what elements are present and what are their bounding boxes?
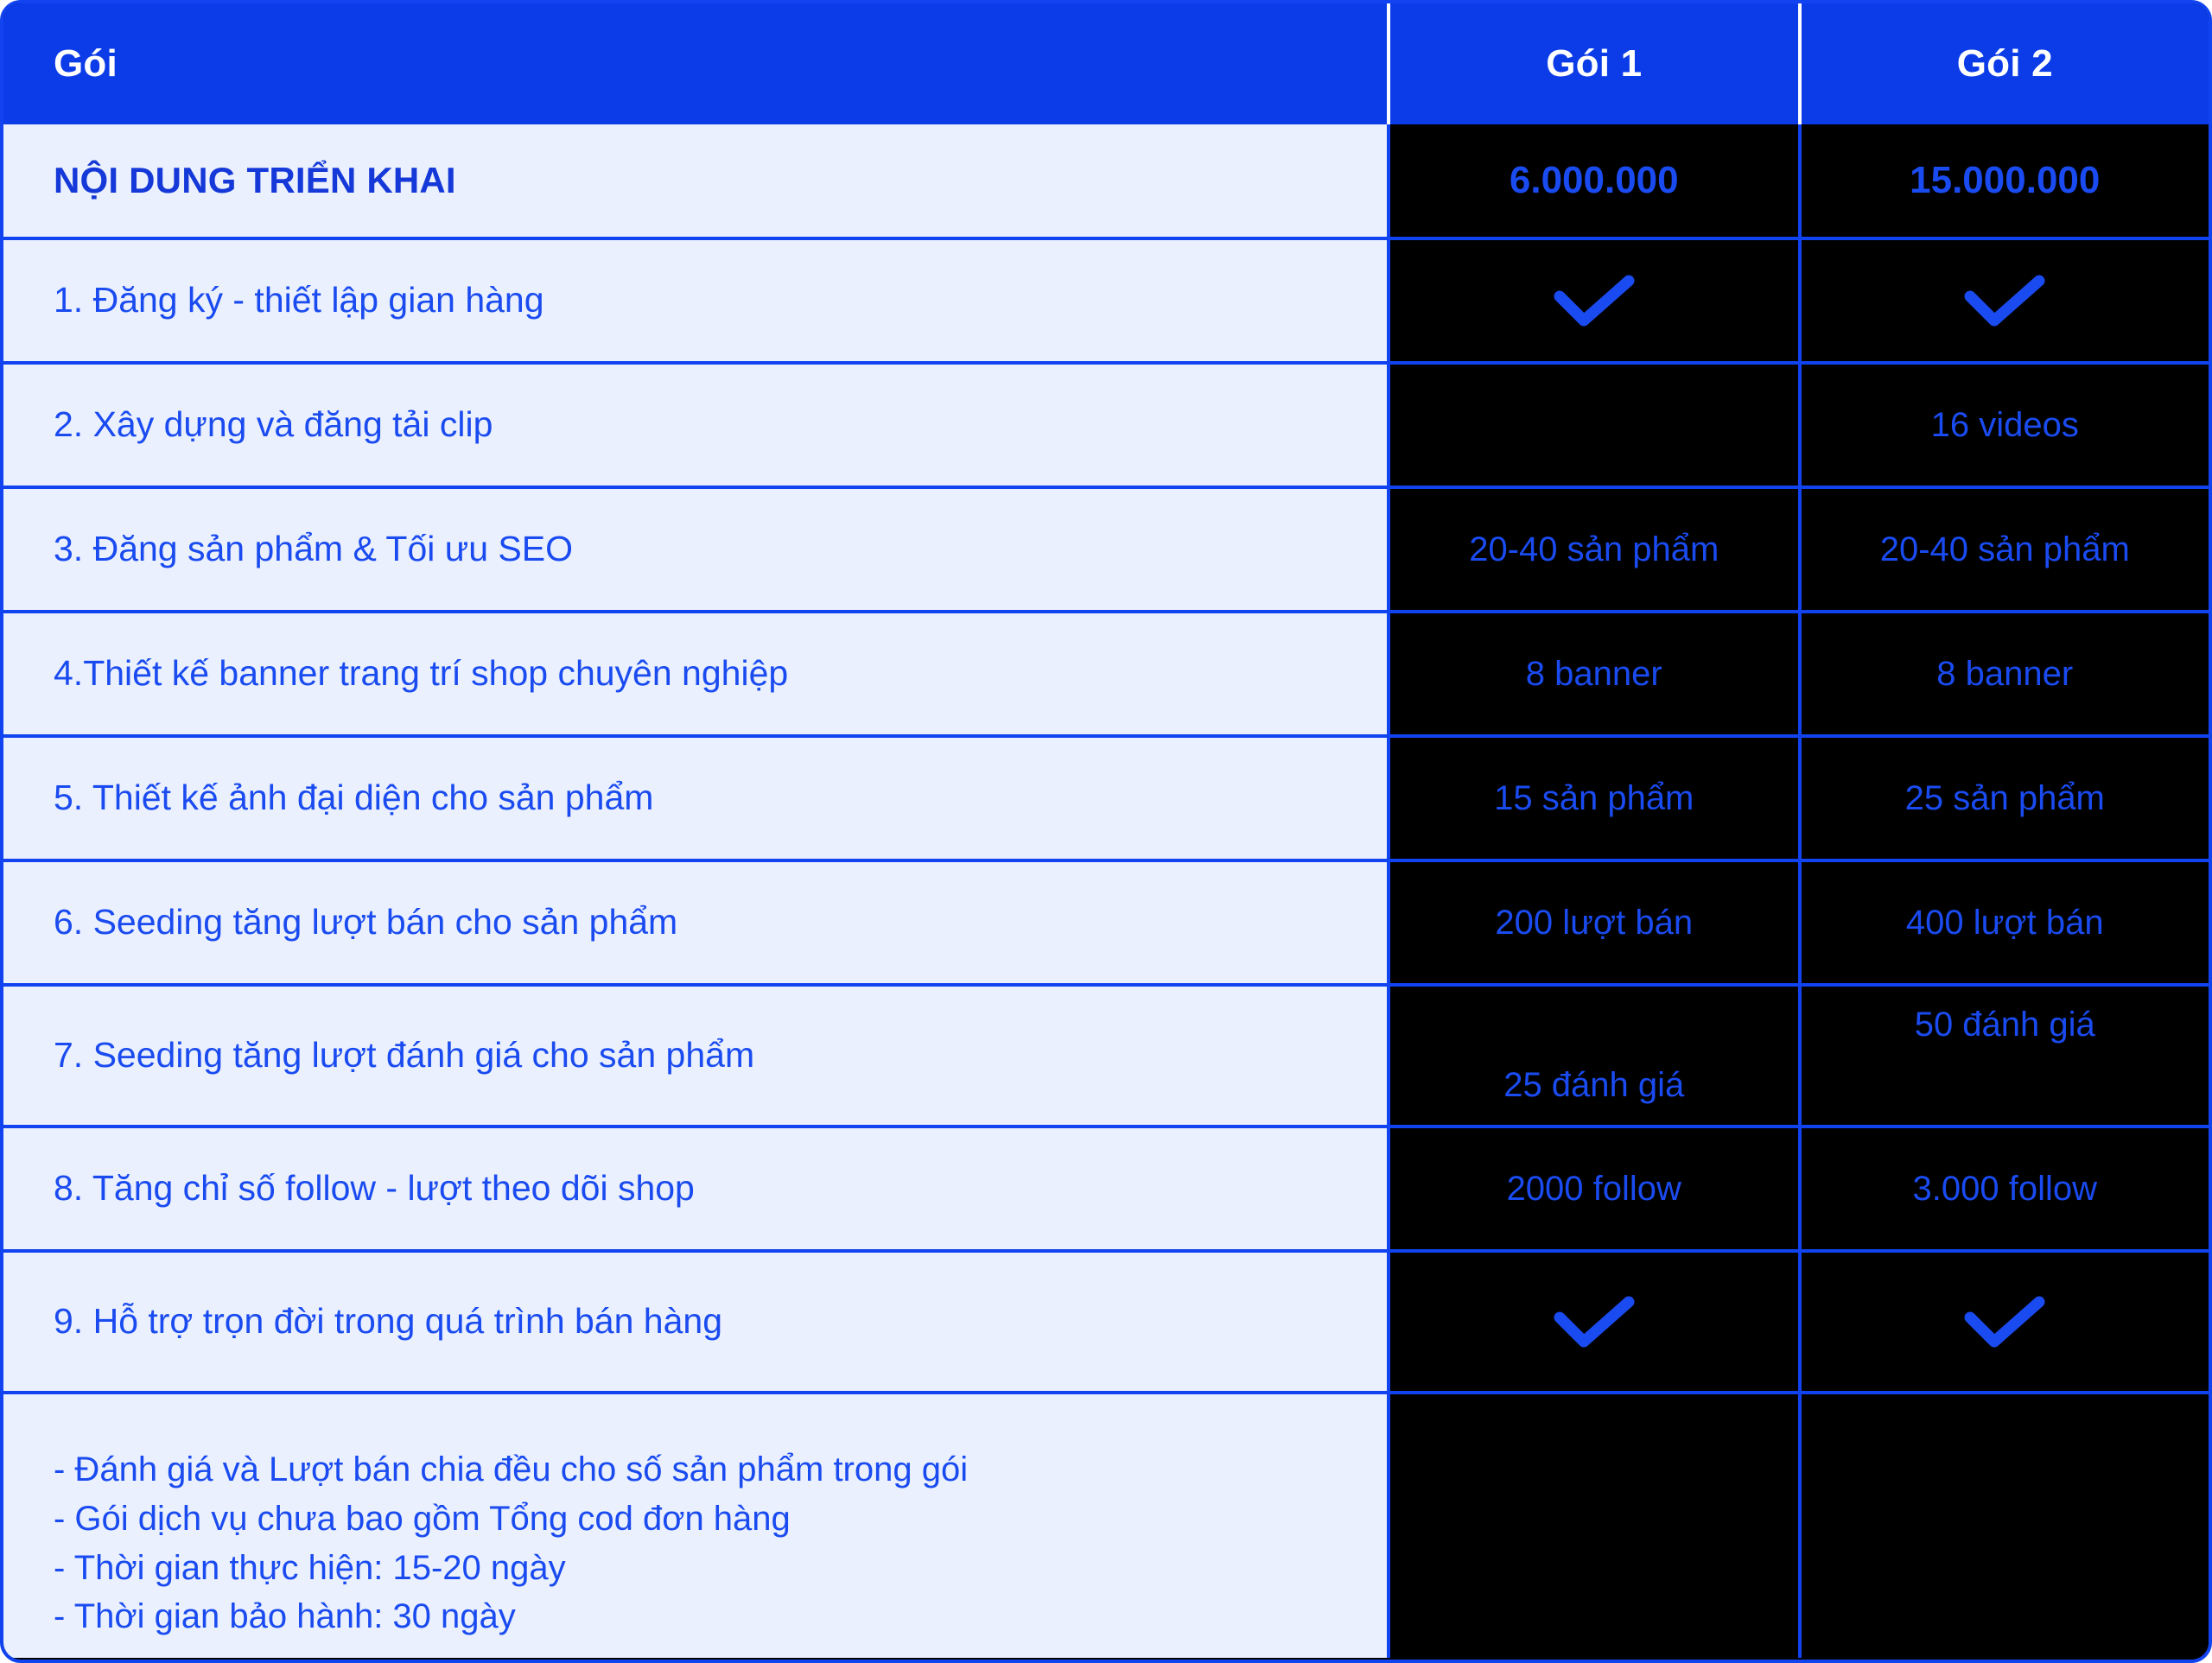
price-cell-plan2: 15.000.000 — [1798, 124, 2209, 237]
plan1-header-label: Gói 1 — [1546, 42, 1642, 86]
plan2-value: 25 sản phẩm — [1905, 779, 2105, 817]
plan1-value: 2000 follow — [1507, 1170, 1681, 1208]
table-row: 5. Thiết kế ảnh đại diện cho sản phẩm 15… — [3, 738, 2209, 862]
plan2-cell: 3.000 follow — [1798, 1128, 2209, 1249]
feature-label: 4.Thiết kế banner trang trí shop chuyên … — [54, 653, 788, 694]
feature-column-header-label: Gói — [54, 42, 118, 86]
feature-label: 2. Xây dựng và đăng tải clip — [54, 404, 493, 445]
plan2-value: 16 videos — [1931, 406, 2079, 444]
table-row: 6. Seeding tăng lượt bán cho sản phẩm 20… — [3, 862, 2209, 987]
feature-label: 7. Seeding tăng lượt đánh giá cho sản ph… — [54, 1035, 754, 1076]
plan1-cell — [1390, 1253, 1798, 1391]
table-row: 2. Xây dựng và đăng tải clip 16 videos — [3, 365, 2209, 489]
plan1-value: 8 banner — [1526, 655, 1662, 693]
table-row: 7. Seeding tăng lượt đánh giá cho sản ph… — [3, 987, 2209, 1128]
plan2-cell — [1798, 240, 2209, 361]
plan1-cell: 20-40 sản phẩm — [1390, 489, 1798, 610]
feature-label: 6. Seeding tăng lượt bán cho sản phẩm — [54, 902, 677, 943]
price-row: NỘI DUNG TRIỂN KHAI 6.000.000 15.000.000 — [3, 124, 2209, 240]
feature-cell: 7. Seeding tăng lượt đánh giá cho sản ph… — [3, 987, 1390, 1125]
note-line: - Đánh giá và Lượt bán chia đều cho số s… — [54, 1445, 968, 1495]
plan2-cell: 8 banner — [1798, 613, 2209, 734]
table-header-row: Gói Gói 1 Gói 2 — [3, 3, 2209, 124]
plan1-cell: 15 sản phẩm — [1390, 738, 1798, 859]
note-line: - Gói dịch vụ chưa bao gồm Tổng cod đơn … — [54, 1495, 791, 1544]
plan1-cell: 200 lượt bán — [1390, 862, 1798, 983]
feature-label: 8. Tăng chỉ số follow - lượt theo dõi sh… — [54, 1168, 695, 1209]
notes-row: - Đánh giá và Lượt bán chia đều cho số s… — [3, 1394, 2209, 1658]
plan1-value: 25 đánh giá — [1503, 1066, 1684, 1104]
plan2-value: 50 đánh giá — [1915, 1006, 2095, 1044]
checkmark-icon — [1553, 1295, 1636, 1349]
plan1-value: 15 sản phẩm — [1494, 779, 1694, 817]
feature-cell: 9. Hỗ trợ trọn đời trong quá trình bán h… — [3, 1253, 1390, 1391]
table-row: 4.Thiết kế banner trang trí shop chuyên … — [3, 613, 2209, 738]
price-row-section-cell: NỘI DUNG TRIỂN KHAI — [3, 124, 1390, 237]
note-line: - Thời gian bảo hành: 30 ngày — [54, 1592, 516, 1641]
plan1-cell: 2000 follow — [1390, 1128, 1798, 1249]
plan1-value: 20-40 sản phẩm — [1469, 530, 1719, 568]
header-cell-plan1: Gói 1 — [1390, 3, 1798, 124]
plan1-cell: 25 đánh giá — [1390, 987, 1798, 1125]
checkmark-icon — [1963, 274, 2046, 327]
section-title: NỘI DUNG TRIỂN KHAI — [54, 160, 456, 201]
note-line: - Thời gian thực hiện: 15-20 ngày — [54, 1544, 566, 1593]
plan2-price: 15.000.000 — [1910, 159, 2100, 202]
plan2-value: 8 banner — [1936, 655, 2073, 693]
feature-cell: 3. Đăng sản phẩm & Tối ưu SEO — [3, 489, 1390, 610]
header-cell-plan2: Gói 2 — [1798, 3, 2209, 124]
feature-cell: 6. Seeding tăng lượt bán cho sản phẩm — [3, 862, 1390, 983]
feature-cell: 2. Xây dựng và đăng tải clip — [3, 365, 1390, 486]
price-cell-plan1: 6.000.000 — [1390, 124, 1798, 237]
feature-label: 3. Đăng sản phẩm & Tối ưu SEO — [54, 529, 573, 569]
feature-cell: 1. Đăng ký - thiết lập gian hàng — [3, 240, 1390, 361]
plan2-cell: 25 sản phẩm — [1798, 738, 2209, 859]
plan2-cell: 50 đánh giá — [1798, 987, 2209, 1125]
checkmark-icon — [1553, 274, 1636, 327]
feature-cell: 5. Thiết kế ảnh đại diện cho sản phẩm — [3, 738, 1390, 859]
plan2-value: 400 lượt bán — [1906, 904, 2104, 942]
checkmark-icon — [1963, 1295, 2046, 1349]
notes-cell: - Đánh giá và Lượt bán chia đều cho số s… — [3, 1394, 1390, 1658]
notes-cell-plan2 — [1798, 1394, 2209, 1658]
plan2-cell — [1798, 1253, 2209, 1391]
feature-label: 1. Đăng ký - thiết lập gian hàng — [54, 280, 544, 321]
table-row: 8. Tăng chỉ số follow - lượt theo dõi sh… — [3, 1128, 2209, 1253]
plan2-cell: 16 videos — [1798, 365, 2209, 486]
plan1-cell — [1390, 365, 1798, 486]
plan1-value: 200 lượt bán — [1495, 904, 1693, 942]
plan2-value: 3.000 follow — [1913, 1170, 2097, 1208]
plan1-cell — [1390, 240, 1798, 361]
plan1-price: 6.000.000 — [1510, 159, 1679, 202]
table-row: 9. Hỗ trợ trọn đời trong quá trình bán h… — [3, 1253, 2209, 1394]
feature-cell: 8. Tăng chỉ số follow - lượt theo dõi sh… — [3, 1128, 1390, 1249]
header-cell-feature: Gói — [3, 3, 1390, 124]
pricing-comparison-table: Gói Gói 1 Gói 2 NỘI DUNG TRIỂN KHAI 6.00… — [0, 0, 2212, 1663]
plan2-value: 20-40 sản phẩm — [1880, 530, 2130, 568]
plan1-cell: 8 banner — [1390, 613, 1798, 734]
plan2-cell: 20-40 sản phẩm — [1798, 489, 2209, 610]
table-row: 3. Đăng sản phẩm & Tối ưu SEO 20-40 sản … — [3, 489, 2209, 613]
feature-label: 9. Hỗ trợ trọn đời trong quá trình bán h… — [54, 1301, 722, 1342]
table-row: 1. Đăng ký - thiết lập gian hàng — [3, 240, 2209, 365]
plan2-cell: 400 lượt bán — [1798, 862, 2209, 983]
feature-label: 5. Thiết kế ảnh đại diện cho sản phẩm — [54, 778, 653, 818]
notes-cell-plan1 — [1390, 1394, 1798, 1658]
plan2-header-label: Gói 2 — [1957, 42, 2053, 86]
feature-cell: 4.Thiết kế banner trang trí shop chuyên … — [3, 613, 1390, 734]
